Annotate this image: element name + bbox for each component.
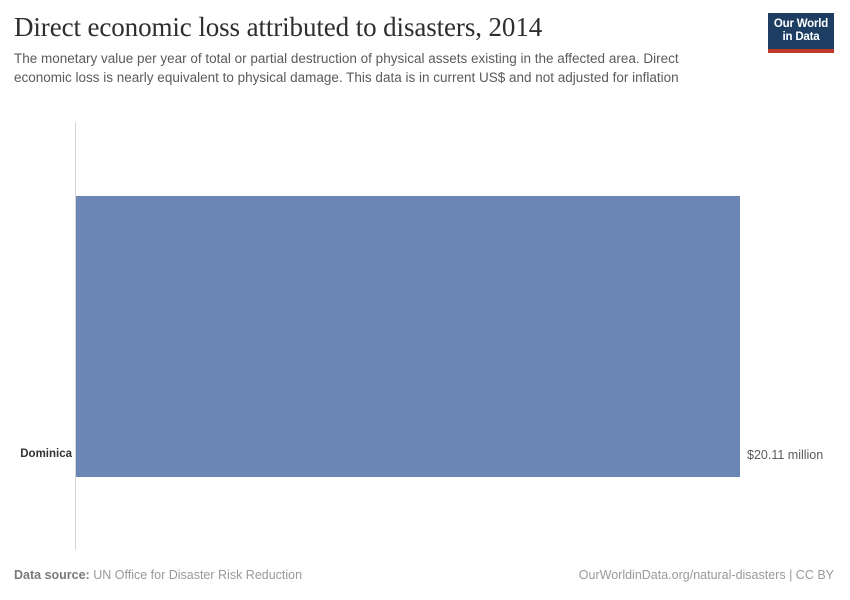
- bar-dominica[interactable]: [76, 196, 740, 477]
- chart-header: Direct economic loss attributed to disas…: [0, 0, 850, 118]
- bar-row: Dominica $20.11 million: [0, 118, 850, 558]
- data-source-value: UN Office for Disaster Risk Reduction: [93, 568, 302, 582]
- bar-category-label-dominica: Dominica: [0, 448, 72, 460]
- chart-subtitle: The monetary value per year of total or …: [14, 50, 736, 87]
- footer-link[interactable]: OurWorldinData.org/natural-disasters | C…: [579, 568, 834, 582]
- data-source-label: Data source:: [14, 568, 90, 582]
- chart-footer: Data source: UN Office for Disaster Risk…: [0, 558, 850, 600]
- logo-line-two: in Data: [783, 31, 820, 44]
- our-world-in-data-logo[interactable]: Our World in Data: [768, 13, 834, 53]
- page-title: Direct economic loss attributed to disas…: [14, 12, 754, 42]
- chart-plot-area: Dominica $20.11 million: [0, 118, 850, 558]
- data-source: Data source: UN Office for Disaster Risk…: [14, 568, 302, 582]
- bar-value-label-dominica: $20.11 million: [747, 448, 823, 462]
- logo-line-one: Our World: [774, 18, 828, 31]
